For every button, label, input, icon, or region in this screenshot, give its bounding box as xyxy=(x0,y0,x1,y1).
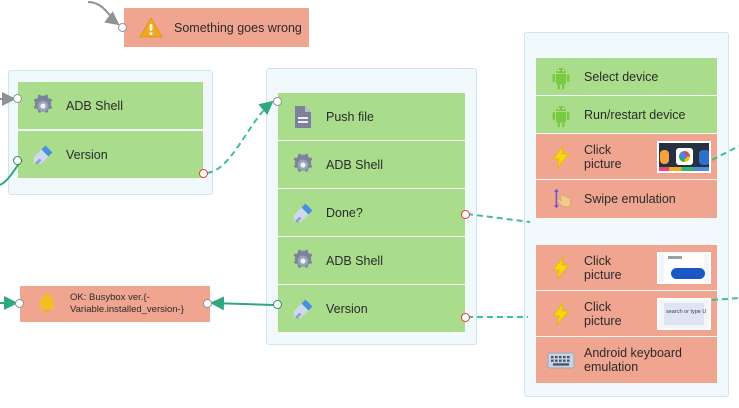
row-version-center[interactable]: Version xyxy=(278,285,465,332)
row-swipe-emulation[interactable]: Swipe emulation xyxy=(536,180,717,218)
row-label: Run/restart device xyxy=(584,108,717,122)
row-label: ADB Shell xyxy=(66,99,203,113)
row-done[interactable]: Done? xyxy=(278,189,465,236)
android-icon xyxy=(544,98,578,132)
pen-icon xyxy=(286,292,320,326)
row-label: Push file xyxy=(326,110,465,124)
port-warning-in[interactable] xyxy=(118,23,127,32)
node-ok-busybox-notify[interactable]: OK: Busybox ver.{- Variable.installed_ve… xyxy=(20,286,210,322)
gear-icon xyxy=(286,148,320,182)
row-label: Click picture xyxy=(584,254,657,282)
port-notify-out[interactable] xyxy=(203,299,212,308)
thumbnail-search-or-type-url[interactable]: search or type U xyxy=(657,298,711,330)
row-push-file[interactable]: Push file xyxy=(278,93,465,140)
document-icon xyxy=(286,100,320,134)
node-label: Something goes wrong xyxy=(174,21,302,35)
thumbnail-url-text: search or type U xyxy=(666,309,706,315)
row-label: Click picture xyxy=(584,143,657,171)
row-android-keyboard-emulation[interactable]: Android keyboard emulation xyxy=(536,337,717,383)
node-something-goes-wrong[interactable]: Something goes wrong xyxy=(124,8,309,47)
port-center-pushfile-in[interactable] xyxy=(273,97,282,106)
wire-left-to-center xyxy=(207,102,272,173)
lightning-icon xyxy=(544,140,578,174)
gear-icon xyxy=(286,244,320,278)
row-run-restart-device[interactable]: Run/restart device xyxy=(536,96,717,133)
port-center-done-out[interactable] xyxy=(461,210,470,219)
pen-icon xyxy=(26,138,60,172)
thumbnail-android-home-screen[interactable]: ··· xyxy=(657,141,711,173)
row-label: Version xyxy=(326,302,465,316)
swipe-hand-icon xyxy=(544,182,578,216)
gear-icon xyxy=(26,89,60,123)
row-label: Version xyxy=(66,148,203,162)
row-version-left[interactable]: Version xyxy=(18,131,203,178)
port-left-adbshell-in[interactable] xyxy=(13,94,22,103)
row-click-picture-1[interactable]: Click picture ··· xyxy=(536,134,717,179)
lightning-icon xyxy=(544,251,578,285)
pen-icon xyxy=(286,196,320,230)
row-label: Android keyboard emulation xyxy=(584,346,717,374)
warning-triangle-icon xyxy=(134,11,168,45)
node-label: OK: Busybox ver.{- Variable.installed_ve… xyxy=(70,292,184,316)
row-adb-shell-c1[interactable]: ADB Shell xyxy=(278,141,465,188)
android-icon xyxy=(544,60,578,94)
row-label: Select device xyxy=(584,70,717,84)
row-label: ADB Shell xyxy=(326,158,465,172)
row-select-device[interactable]: Select device xyxy=(536,58,717,95)
row-click-picture-3[interactable]: Click picture search or type U xyxy=(536,291,717,336)
port-notify-in[interactable] xyxy=(15,299,24,308)
row-label: Click picture xyxy=(584,300,657,328)
port-center-version-out[interactable] xyxy=(461,313,470,322)
wire-to-warning xyxy=(88,2,118,24)
row-click-picture-2[interactable]: Click picture xyxy=(536,245,717,290)
keyboard-icon xyxy=(544,343,578,377)
row-adb-shell-left[interactable]: ADB Shell xyxy=(18,82,203,129)
row-adb-shell-c2[interactable]: ADB Shell xyxy=(278,237,465,284)
row-label: Swipe emulation xyxy=(584,192,717,206)
diagram-canvas: Something goes wrong ADB Shell Version xyxy=(0,0,739,408)
row-label: ADB Shell xyxy=(326,254,465,268)
lightning-icon xyxy=(544,297,578,331)
port-left-version-in[interactable] xyxy=(13,156,22,165)
row-label: Done? xyxy=(326,206,465,220)
bell-icon xyxy=(30,287,64,321)
port-left-version-out[interactable] xyxy=(199,169,208,178)
thumbnail-blue-button-dialog[interactable] xyxy=(657,252,711,284)
wire-center-to-notify xyxy=(212,303,273,305)
port-center-version-in[interactable] xyxy=(273,300,282,309)
